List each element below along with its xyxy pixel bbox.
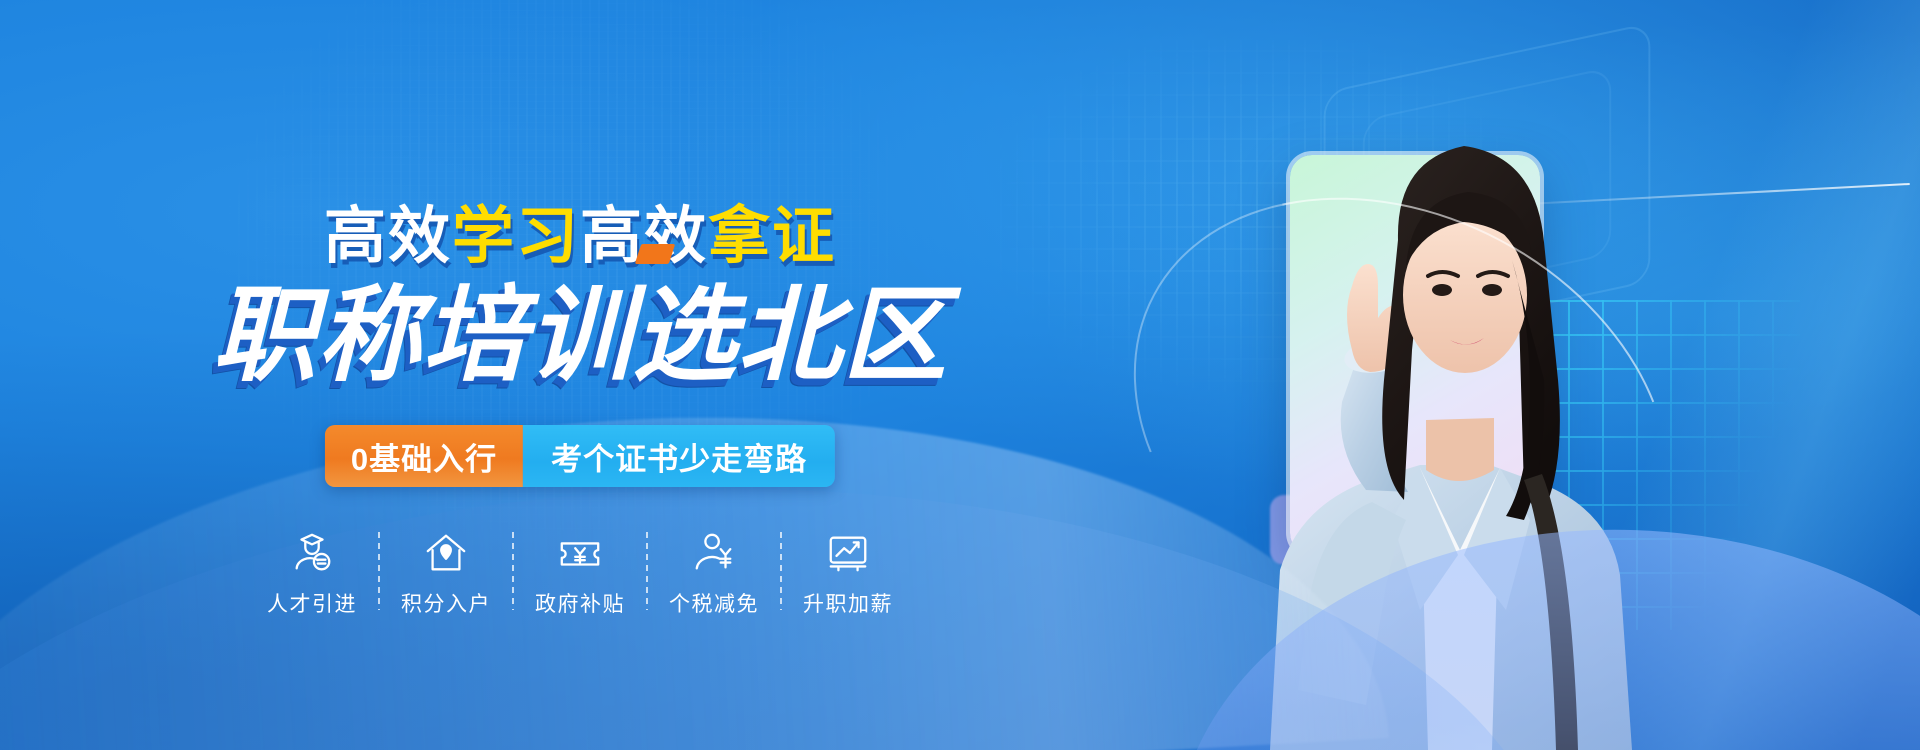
photo-zone	[1120, 0, 1740, 750]
status-badge: 0基础入行 考个证书少走弯路	[325, 425, 835, 487]
page-title: 职称培训选北区	[0, 250, 1160, 401]
headline-part-2: 选	[632, 250, 737, 401]
feature-item-promotion[interactable]: 升职加薪	[782, 530, 914, 618]
woman-photo	[1120, 50, 1740, 750]
house-pin-icon	[423, 530, 469, 576]
feature-item-talent[interactable]: 人才引进	[246, 530, 378, 618]
content-block: 高效学习高效拿证 职称培训选北区 0基础入行 考个证书少走弯路 人才引进	[0, 0, 1160, 750]
feature-label: 个税减免	[669, 588, 759, 618]
promo-banner: 高效学习高效拿证 职称培训选北区 0基础入行 考个证书少走弯路 人才引进	[0, 0, 1920, 750]
growth-chart-icon	[825, 530, 871, 576]
feature-label: 积分入户	[401, 588, 491, 618]
graduate-person-icon	[289, 530, 335, 576]
feature-label: 人才引进	[267, 588, 357, 618]
feature-label: 升职加薪	[803, 588, 893, 618]
feature-list: 人才引进 积分入户 政府补贴	[246, 530, 914, 618]
feature-label: 政府补贴	[535, 588, 625, 618]
feature-item-tax[interactable]: 个税减免	[648, 530, 780, 618]
headline-part-1: 职称培训	[212, 278, 632, 394]
feature-item-subsidy[interactable]: 政府补贴	[514, 530, 646, 618]
badge-left-label: 0基础入行	[325, 425, 523, 487]
ticket-yuan-icon	[557, 530, 603, 576]
person-yuan-icon	[691, 530, 737, 576]
headline-part-3: 北区	[738, 278, 948, 394]
feature-item-residency[interactable]: 积分入户	[380, 530, 512, 618]
badge-right-label: 考个证书少走弯路	[523, 425, 835, 487]
